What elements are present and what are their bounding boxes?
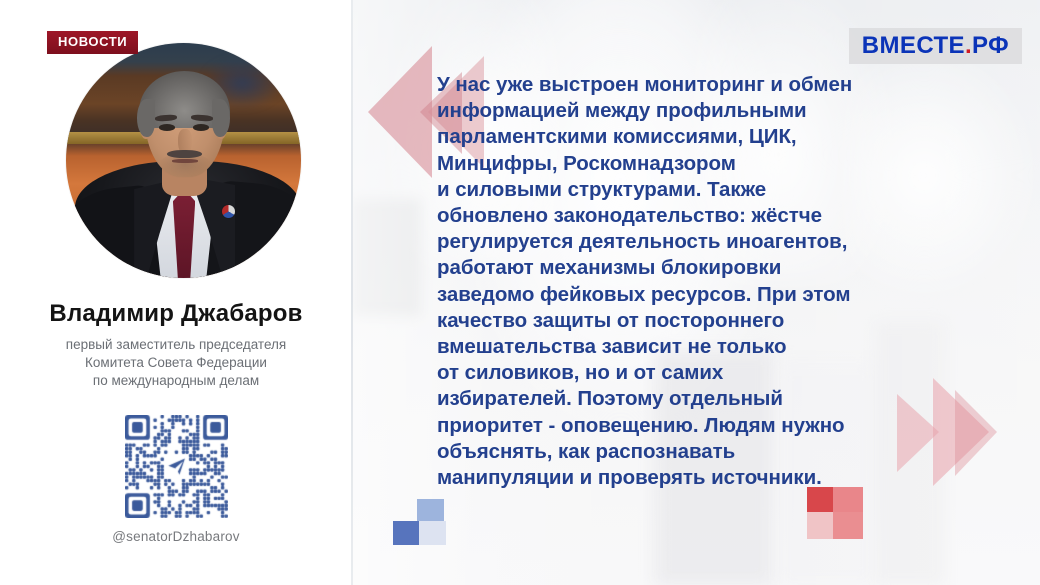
- portrait-eye-right: [193, 124, 209, 131]
- portrait-hair-side-left: [137, 99, 156, 137]
- quote-line: заведомо фейковых ресурсов. При этом: [437, 282, 907, 308]
- blue-squares-decoration: [393, 499, 447, 545]
- speaker-portrait: [66, 43, 301, 278]
- speaker-role-line: Комитета Совета Федерации: [0, 354, 352, 372]
- channel-logo-tld: РФ: [972, 32, 1009, 59]
- quote-line: манипуляции и проверять источники.: [437, 465, 907, 491]
- speaker-role-line: по международным делам: [0, 372, 352, 390]
- news-badge: НОВОСТИ: [47, 31, 138, 54]
- red-square-bottom-left: [807, 512, 834, 539]
- red-square-bottom-right: [833, 512, 863, 539]
- quote-line: и силовыми структурами. Также: [437, 177, 907, 203]
- qr-block: @senatorDzhabarov: [0, 415, 352, 544]
- blue-square-bottom: [419, 521, 446, 545]
- quote-line: У нас уже выстроен мониторинг и обмен: [437, 72, 907, 98]
- speaker-info: Владимир Джабаров первый заместитель пре…: [0, 300, 352, 390]
- quote-line: вмешательства зависит не только: [437, 334, 907, 360]
- speaker-name: Владимир Джабаров: [0, 300, 352, 329]
- panel-divider: [351, 0, 353, 585]
- blue-square-top: [417, 499, 444, 522]
- portrait-mouth: [172, 159, 198, 163]
- quote-line: избирателей. Поэтому отдельный: [437, 386, 907, 412]
- quote-line: от силовиков, но и от самих: [437, 360, 907, 386]
- blue-square-left: [393, 521, 420, 545]
- news-quote-card: У нас уже выстроен мониторинг и обменинф…: [0, 0, 1040, 585]
- channel-logo-dot: .: [965, 32, 972, 59]
- chevron-right-decoration: [893, 372, 1023, 492]
- quote-line: регулируется деятельность иноагентов,: [437, 229, 907, 255]
- channel-logo-name: ВМЕСТЕ: [862, 32, 965, 59]
- speaker-role: первый заместитель председателяКомитета …: [0, 336, 352, 390]
- qr-code[interactable]: [125, 415, 228, 518]
- quote-line: качество защиты от постороннего: [437, 308, 907, 334]
- portrait-eye-left: [159, 124, 175, 131]
- quote-line: приоритет - оповещению. Людям нужно: [437, 413, 907, 439]
- quote-line: Минцифры, Роскомнадзором: [437, 151, 907, 177]
- qr-code-canvas[interactable]: [125, 415, 228, 518]
- quote-text: У нас уже выстроен мониторинг и обменинф…: [437, 72, 907, 491]
- speaker-role-line: первый заместитель председателя: [0, 336, 352, 354]
- quote-line: объяснять, как распознавать: [437, 439, 907, 465]
- quote-line: информацией между профильными: [437, 98, 907, 124]
- red-squares-decoration: [807, 487, 863, 539]
- speaker-panel: НОВОСТИ Владимир Джабаров первый замести…: [0, 0, 352, 585]
- quote-line: работают механизмы блокировки: [437, 255, 907, 281]
- quote-line: парламентскими комиссиями, ЦИК,: [437, 124, 907, 150]
- telegram-handle: @senatorDzhabarov: [0, 529, 352, 544]
- quote-line: обновлено законодательство: жёстче: [437, 203, 907, 229]
- channel-logo: ВМЕСТЕ.РФ: [849, 28, 1022, 64]
